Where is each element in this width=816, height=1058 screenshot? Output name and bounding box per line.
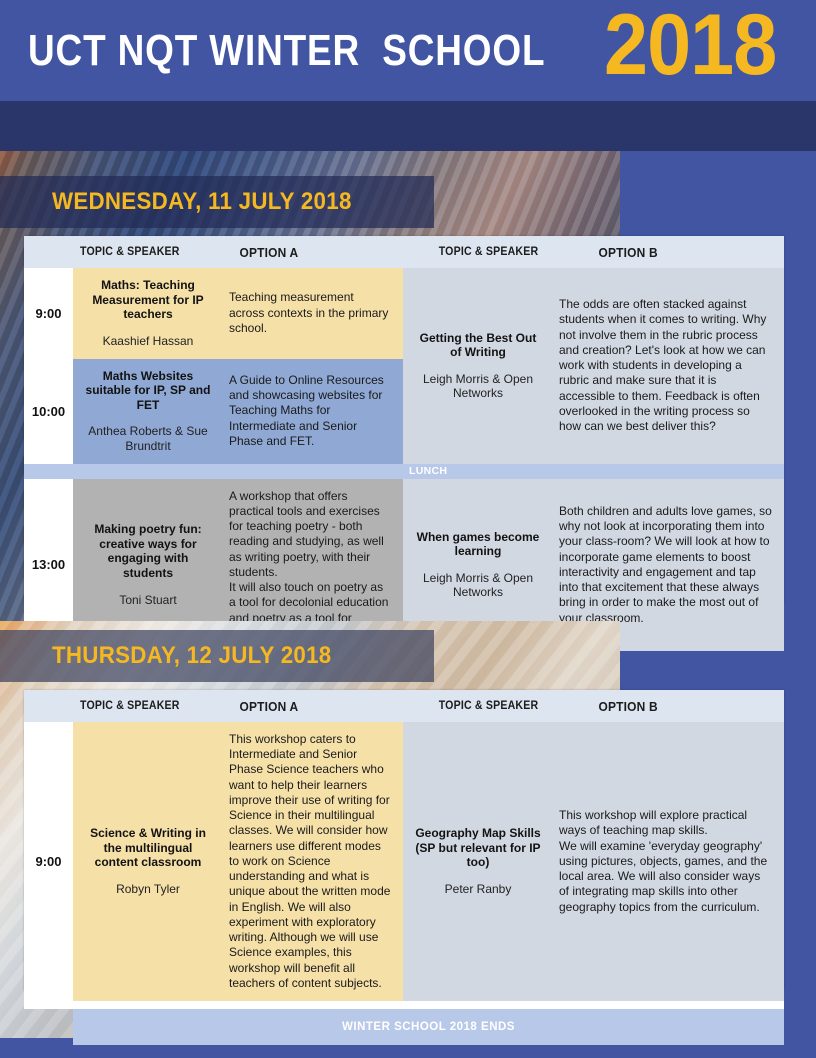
column-header-topic-speaker-b: TOPIC & SPEAKER	[424, 236, 547, 268]
column-header-topic-speaker-a: TOPIC & SPEAKER	[69, 236, 189, 268]
column-header-option-b: OPTION B	[558, 690, 766, 722]
description-cell-option-a: A Guide to Online Resources and showcasi…	[221, 359, 403, 464]
column-header-topic-speaker-a: TOPIC & SPEAKER	[69, 690, 189, 722]
topic-cell-option-a: Science & Writing in the multilingual co…	[73, 722, 221, 1001]
schedule-card-thursday: TOPIC & SPEAKER OPTION A TOPIC & SPEAKER…	[24, 690, 784, 990]
description-text: A Guide to Online Resources and showcasi…	[229, 373, 391, 449]
schedule-card-wednesday: TOPIC & SPEAKER OPTION A TOPIC & SPEAKER…	[24, 236, 784, 603]
topic-title: Science & Writing in the multilingual co…	[83, 826, 213, 870]
header-divider-band	[0, 101, 816, 151]
topic-speaker: Leigh Morris & Open Networks	[413, 372, 543, 401]
poster-page: UCT NQT WINTER SCHOOL 2018 WEDNESDAY, 11…	[0, 0, 816, 1058]
description-cell-option-a: This workshop caters to Intermediate and…	[221, 722, 403, 1001]
column-header-time	[24, 236, 65, 268]
column-header-topic-speaker-b: TOPIC & SPEAKER	[424, 690, 547, 722]
poster-title: UCT NQT WINTER SCHOOL	[28, 29, 545, 73]
topic-title: Maths: Teaching Measurement for IP teach…	[83, 278, 213, 322]
table-header-row-wednesday: TOPIC & SPEAKER OPTION A TOPIC & SPEAKER…	[24, 236, 784, 268]
topic-cell-option-a: Maths: Teaching Measurement for IP teach…	[73, 268, 221, 359]
lunch-label: LUNCH	[403, 464, 784, 479]
topic-title: Maths Websites suitable for IP, SP and F…	[83, 369, 213, 413]
description-cell-option-b: This workshop will explore practical way…	[551, 722, 784, 1001]
description-text: Teaching measurement across contexts in …	[229, 290, 391, 336]
description-text: The odds are often stacked against stude…	[559, 297, 772, 434]
row-time: 10:00	[24, 359, 73, 464]
topic-title: When games become learning	[413, 530, 543, 559]
column-header-option-a: OPTION A	[199, 236, 407, 268]
topic-title: Geography Map Skills (SP but relevant fo…	[413, 826, 543, 870]
topic-speaker: Robyn Tyler	[83, 882, 213, 897]
description-text: This workshop caters to Intermediate and…	[229, 732, 391, 991]
day-banner-thursday: THURSDAY, 12 JULY 2018	[0, 630, 434, 682]
poster-year: 2018	[604, 2, 776, 88]
option-b-cell: Geography Map Skills (SP but relevant fo…	[403, 722, 784, 1001]
topic-cell-option-a: Maths Websites suitable for IP, SP and F…	[73, 359, 221, 464]
description-cell-option-a: Teaching measurement across contexts in …	[221, 268, 403, 359]
day-banner-thursday-label: THURSDAY, 12 JULY 2018	[52, 642, 332, 670]
column-header-option-b: OPTION B	[558, 236, 766, 268]
table-row: 9:00 Maths: Teaching Measurement for IP …	[24, 268, 403, 359]
winter-school-ends-bar: WINTER SCHOOL 2018 ENDS	[73, 1009, 784, 1045]
topic-speaker: Peter Ranby	[413, 882, 543, 897]
column-header-option-a: OPTION A	[199, 690, 407, 722]
lunch-bar-left	[24, 464, 403, 479]
description-text: A workshop that offers practical tools a…	[229, 489, 391, 641]
card-spacer	[24, 1001, 784, 1009]
table-header-row-thursday: TOPIC & SPEAKER OPTION A TOPIC & SPEAKER…	[24, 690, 784, 722]
topic-speaker: Toni Stuart	[83, 593, 213, 608]
topic-title: Making poetry fun: creative ways for eng…	[83, 522, 213, 581]
day-banner-wednesday-label: WEDNESDAY, 11 JULY 2018	[52, 188, 352, 216]
row-time: 9:00	[24, 722, 73, 1001]
description-cell-option-b: The odds are often stacked against stude…	[551, 268, 784, 464]
topic-cell-option-b: Getting the Best Out of Writing Leigh Mo…	[403, 268, 551, 464]
column-header-time	[24, 690, 65, 722]
lunch-bar: LUNCH	[24, 464, 784, 479]
topic-speaker: Leigh Morris & Open Networks	[413, 571, 543, 600]
table-row: 10:00 Maths Websites suitable for IP, SP…	[24, 359, 403, 464]
topic-speaker: Anthea Roberts & Sue Brundtrit	[83, 424, 213, 453]
option-b-merged-cell: Getting the Best Out of Writing Leigh Mo…	[403, 268, 784, 464]
table-body-wednesday-upper: 9:00 Maths: Teaching Measurement for IP …	[24, 268, 784, 464]
description-text: This workshop will explore practical way…	[559, 808, 772, 915]
topic-title: Getting the Best Out of Writing	[413, 331, 543, 360]
table-row: 9:00 Science & Writing in the multilingu…	[24, 722, 784, 1001]
row-time: 9:00	[24, 268, 73, 359]
topic-speaker: Kaashief Hassan	[83, 334, 213, 349]
description-text: Both children and adults love games, so …	[559, 504, 772, 626]
poster-header: UCT NQT WINTER SCHOOL 2018	[0, 0, 816, 101]
day-banner-wednesday: WEDNESDAY, 11 JULY 2018	[0, 176, 434, 228]
topic-cell-option-b: Geography Map Skills (SP but relevant fo…	[403, 722, 551, 1001]
